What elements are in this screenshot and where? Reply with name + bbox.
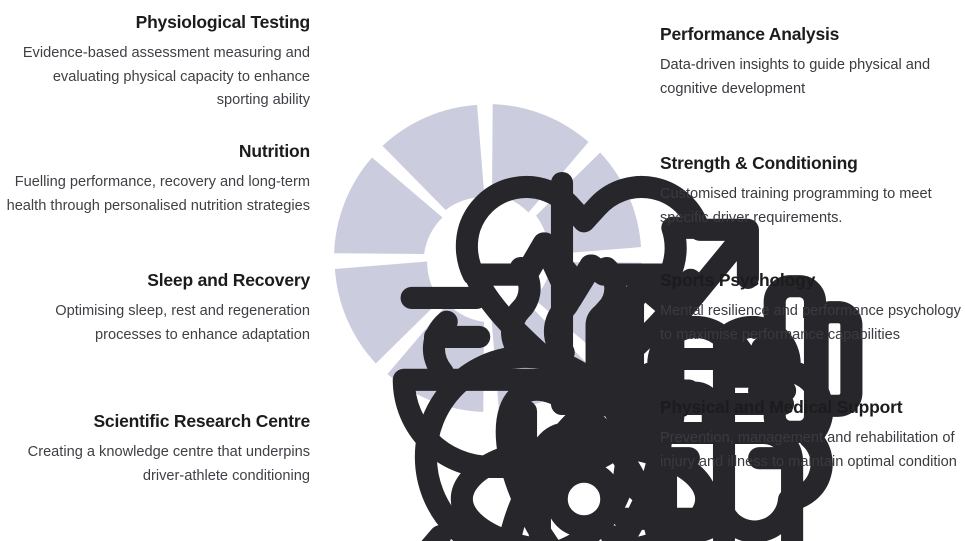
feature-description: Data-driven insights to guide physical a… — [660, 54, 965, 101]
feature-block-scientific-research-centre: Scientific Research Centre Creating a kn… — [0, 411, 330, 488]
heart-pulse-icon — [428, 142, 458, 172]
feature-description: Evidence-based assessment measuring and … — [0, 42, 310, 113]
feature-title: Sports Psychology — [660, 270, 965, 292]
feature-title: Physical and Medical Support — [660, 397, 965, 419]
feature-title: Strength & Conditioning — [660, 153, 965, 175]
feature-title: Scientific Research Centre — [0, 411, 310, 433]
feature-description: Mental resilience and performance psycho… — [660, 300, 965, 347]
feature-title: Nutrition — [0, 141, 310, 163]
feature-block-strength-and-conditioning: Strength & Conditioning Customised train… — [645, 153, 965, 230]
feature-title: Performance Analysis — [660, 24, 965, 46]
infographic-canvas: Physiological Testing Evidence-based ass… — [0, 0, 965, 541]
food-bowl-icon — [370, 203, 400, 233]
feature-description: Creating a knowledge centre that underpi… — [0, 441, 310, 488]
segmented-wheel-diagram — [332, 102, 644, 414]
feature-description: Optimising sleep, rest and regeneration … — [0, 300, 310, 347]
feature-title: Physiological Testing — [0, 12, 310, 34]
feature-block-performance-analysis: Performance Analysis Data-driven insight… — [645, 24, 965, 101]
feature-description: Fuelling performance, recovery and long-… — [0, 171, 310, 218]
feature-description: Customised training programming to meet … — [660, 183, 965, 230]
feature-block-physical-and-medical-support: Physical and Medical Support Prevention,… — [645, 397, 965, 474]
feature-block-sleep-and-recovery: Sleep and Recovery Optimising sleep, res… — [0, 270, 330, 347]
feature-block-physiological-testing: Physiological Testing Evidence-based ass… — [0, 12, 330, 113]
feature-title: Sleep and Recovery — [0, 270, 310, 292]
feature-block-nutrition: Nutrition Fuelling performance, recovery… — [0, 141, 330, 218]
line-chart-icon — [510, 144, 540, 174]
feature-description: Prevention, management and rehabilitatio… — [660, 427, 965, 474]
feature-block-sports-psychology: Sports Psychology Mental resilience and … — [645, 270, 965, 347]
